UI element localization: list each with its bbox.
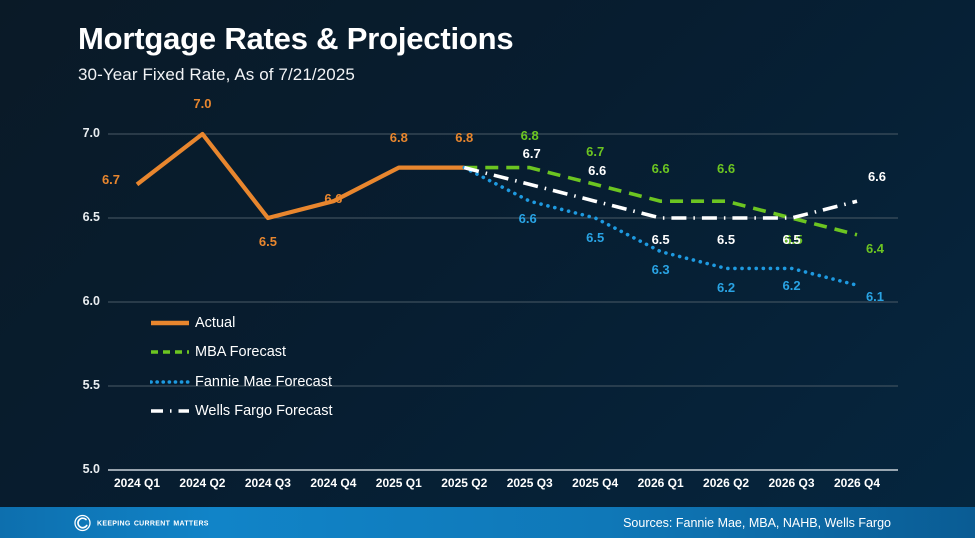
legend-swatch-icon <box>150 345 190 359</box>
data-point-label: 6.5 <box>703 232 749 247</box>
data-point-label: 6.6 <box>505 211 551 226</box>
legend-label: Actual <box>195 315 235 331</box>
y-axis-tick: 6.5 <box>66 210 100 224</box>
legend-label: MBA Forecast <box>195 344 286 360</box>
data-point-label: 6.2 <box>703 280 749 295</box>
y-axis-tick: 6.0 <box>66 294 100 308</box>
data-point-label: 7.0 <box>179 96 225 111</box>
data-point-label: 6.7 <box>572 144 618 159</box>
legend-label: Fannie Mae Forecast <box>195 374 332 390</box>
y-axis-tick: 7.0 <box>66 126 100 140</box>
chart: 5.05.56.06.57.0 2024 Q12024 Q22024 Q3202… <box>0 0 975 507</box>
data-point-label: 6.7 <box>509 146 555 161</box>
data-point-label: 6.5 <box>572 230 618 245</box>
series-line <box>137 134 464 218</box>
legend-item[interactable]: MBA Forecast <box>150 338 333 368</box>
legend-swatch-icon <box>150 404 190 418</box>
data-point-label: 6.5 <box>769 232 815 247</box>
slide-root: Mortgage Rates & Projections 30-Year Fix… <box>0 0 975 538</box>
brand-label: Keeping Current Matters <box>97 517 209 529</box>
data-point-label: 6.8 <box>507 128 553 143</box>
data-point-label: 6.6 <box>574 163 620 178</box>
series-lines <box>137 134 857 285</box>
legend-item[interactable]: Fannie Mae Forecast <box>150 367 333 397</box>
y-axis-tick: 5.5 <box>66 378 100 392</box>
chart-canvas <box>0 0 975 507</box>
footer-bar: Keeping Current Matters Sources: Fannie … <box>0 507 975 538</box>
data-point-label: 6.8 <box>441 130 487 145</box>
x-axis-tick: 2026 Q4 <box>817 476 897 490</box>
data-point-label: 6.2 <box>769 278 815 293</box>
sources-label: Sources: Fannie Mae, MBA, NAHB, Wells Fa… <box>623 516 891 530</box>
data-point-label: 6.5 <box>638 232 684 247</box>
legend-label: Wells Fargo Forecast <box>195 403 333 419</box>
y-axis-tick: 5.0 <box>66 462 100 476</box>
data-point-label: 6.7 <box>88 172 134 187</box>
data-point-label: 6.1 <box>852 289 898 304</box>
legend-item[interactable]: Wells Fargo Forecast <box>150 397 333 427</box>
data-point-label: 6.6 <box>310 191 356 206</box>
legend-swatch-icon <box>150 375 190 389</box>
legend-item[interactable]: Actual <box>150 308 333 338</box>
data-point-label: 6.8 <box>376 130 422 145</box>
data-point-label: 6.3 <box>638 262 684 277</box>
data-point-label: 6.4 <box>852 241 898 256</box>
data-point-label: 6.5 <box>245 234 291 249</box>
kcm-circle-logo-icon <box>74 514 91 531</box>
legend-swatch-icon <box>150 316 190 330</box>
data-point-label: 6.6 <box>854 169 900 184</box>
data-point-label: 6.6 <box>703 161 749 176</box>
chart-legend: ActualMBA ForecastFannie Mae ForecastWel… <box>150 308 333 426</box>
data-point-label: 6.6 <box>638 161 684 176</box>
brand: Keeping Current Matters <box>74 514 209 531</box>
